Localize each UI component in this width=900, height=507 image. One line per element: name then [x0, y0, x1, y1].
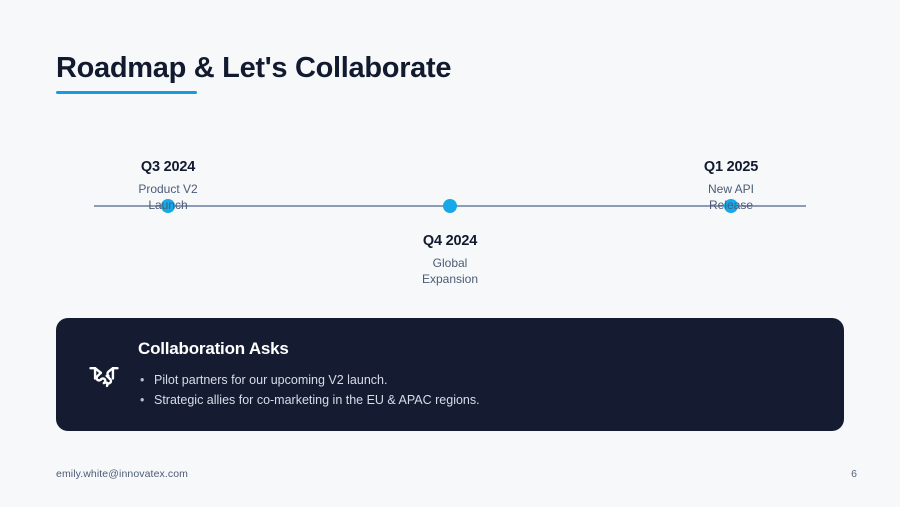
timeline-dot-q4-2024[interactable]	[443, 199, 457, 213]
milestone-quarter: Q1 2025	[636, 159, 826, 176]
list-item: Pilot partners for our upcoming V2 launc…	[138, 371, 820, 391]
milestone-quarter: Q3 2024	[73, 159, 263, 176]
footer-email[interactable]: emily.white@innovatex.com	[56, 468, 188, 480]
collaboration-asks-list: Pilot partners for our upcoming V2 launc…	[138, 371, 820, 410]
list-item: Strategic allies for co-marketing in the…	[138, 391, 820, 411]
collaboration-asks-card: Collaboration Asks Pilot partners for ou…	[56, 318, 844, 431]
timeline-milestone-q1-2025: Q1 2025 New API Release	[636, 159, 826, 213]
timeline-milestone-q4-2024: Q4 2024 Global Expansion	[355, 233, 545, 287]
handshake-icon	[82, 353, 126, 397]
roadmap-timeline: Q3 2024 Product V2 Launch Q4 2024 Global…	[0, 0, 900, 300]
milestone-description: New API Release	[636, 182, 826, 213]
milestone-quarter: Q4 2024	[355, 233, 545, 250]
timeline-milestone-q3-2024: Q3 2024 Product V2 Launch	[73, 159, 263, 213]
collaboration-card-title: Collaboration Asks	[138, 339, 820, 359]
collaboration-card-body: Collaboration Asks Pilot partners for ou…	[138, 339, 844, 410]
milestone-description: Global Expansion	[355, 256, 545, 287]
footer-page-number: 6	[851, 468, 857, 480]
slide-root: Roadmap & Let's Collaborate Q3 2024 Prod…	[0, 0, 900, 507]
milestone-description: Product V2 Launch	[73, 182, 263, 213]
